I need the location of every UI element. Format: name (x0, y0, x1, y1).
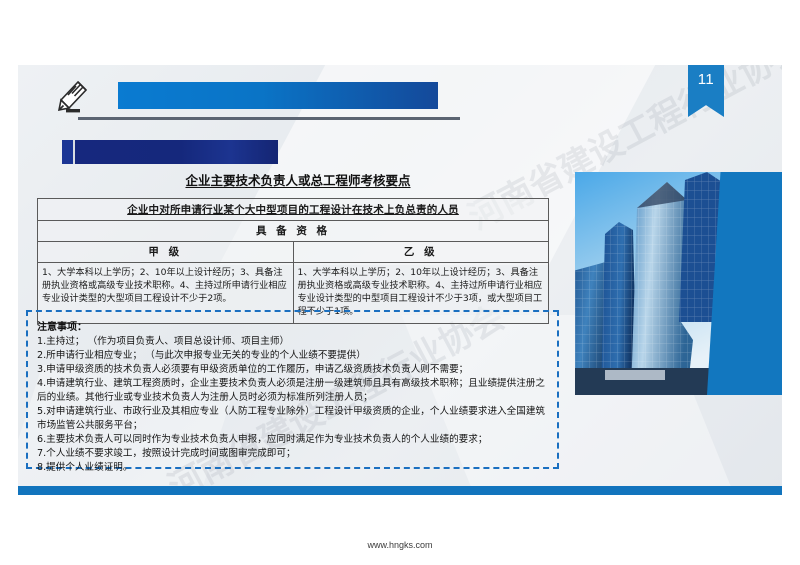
page-number-badge: 11 (688, 65, 724, 117)
skyscraper-photo-block (575, 172, 782, 395)
header-navy-tab (62, 140, 75, 164)
slide-bottom-bar (18, 486, 782, 495)
list-item: 4.申请建筑行业、建筑工程资质时，企业主要技术负责人必须是注册一级建筑师且具有高… (37, 377, 549, 405)
table-row-header-sub: 具 备 资 格 (38, 221, 549, 242)
slide-canvas: 河南省建设工程行业协会 河南省建设工程行业协会 11 企业主要技术负责人或总工程… (18, 65, 782, 495)
table-header-main: 企业中对所申请行业某个大中型项目的工程设计在技术上负总责的人员 (38, 199, 549, 221)
qualification-table: 企业中对所申请行业某个大中型项目的工程设计在技术上负总责的人员 具 备 资 格 … (37, 198, 549, 324)
list-item: 7.个人业绩不要求竣工，按照设计完成时间或图审完成即可； (37, 447, 549, 461)
table-col-header-grade-a: 甲 级 (38, 242, 294, 263)
skyscraper-image (575, 172, 725, 395)
notes-heading: 注意事项： (37, 318, 549, 333)
header-navy-bar (62, 140, 278, 164)
table-row-grades: 甲 级 乙 级 (38, 242, 549, 263)
list-item: 1.主持过； （作为项目负责人、项目总设计师、项目主师） (37, 335, 549, 349)
footer-url: www.hngks.com (0, 540, 800, 550)
list-item: 6.主要技术负责人可以同时作为专业技术负责人申报，应同时满足作为专业技术负责人的… (37, 433, 549, 447)
table-header-sub: 具 备 资 格 (38, 221, 549, 242)
table-col-header-grade-b: 乙 级 (293, 242, 549, 263)
page-title: 企业主要技术负责人或总工程师考核要点 (18, 170, 578, 189)
list-item: 2.所申请行业相应专业； （与此次申报专业无关的专业的个人业绩不要提供） (37, 349, 549, 363)
pencil-icon (53, 78, 93, 120)
notes-box: 注意事项： 1.主持过； （作为项目负责人、项目总设计师、项目主师） 2.所申请… (26, 310, 559, 469)
header-rule (78, 117, 460, 120)
list-item: 5.对申请建筑行业、市政行业及其相应专业（人防工程专业除外）工程设计甲级资质的企… (37, 405, 549, 433)
list-item: 8.提供个人业绩证明。 (37, 461, 549, 475)
list-item: 3.申请甲级资质的技术负责人必须要有甲级资质单位的工作履历，申请乙级资质技术负责… (37, 363, 549, 377)
table-row-header-main: 企业中对所申请行业某个大中型项目的工程设计在技术上负总责的人员 (38, 199, 549, 221)
header-blue-bar (118, 82, 438, 109)
